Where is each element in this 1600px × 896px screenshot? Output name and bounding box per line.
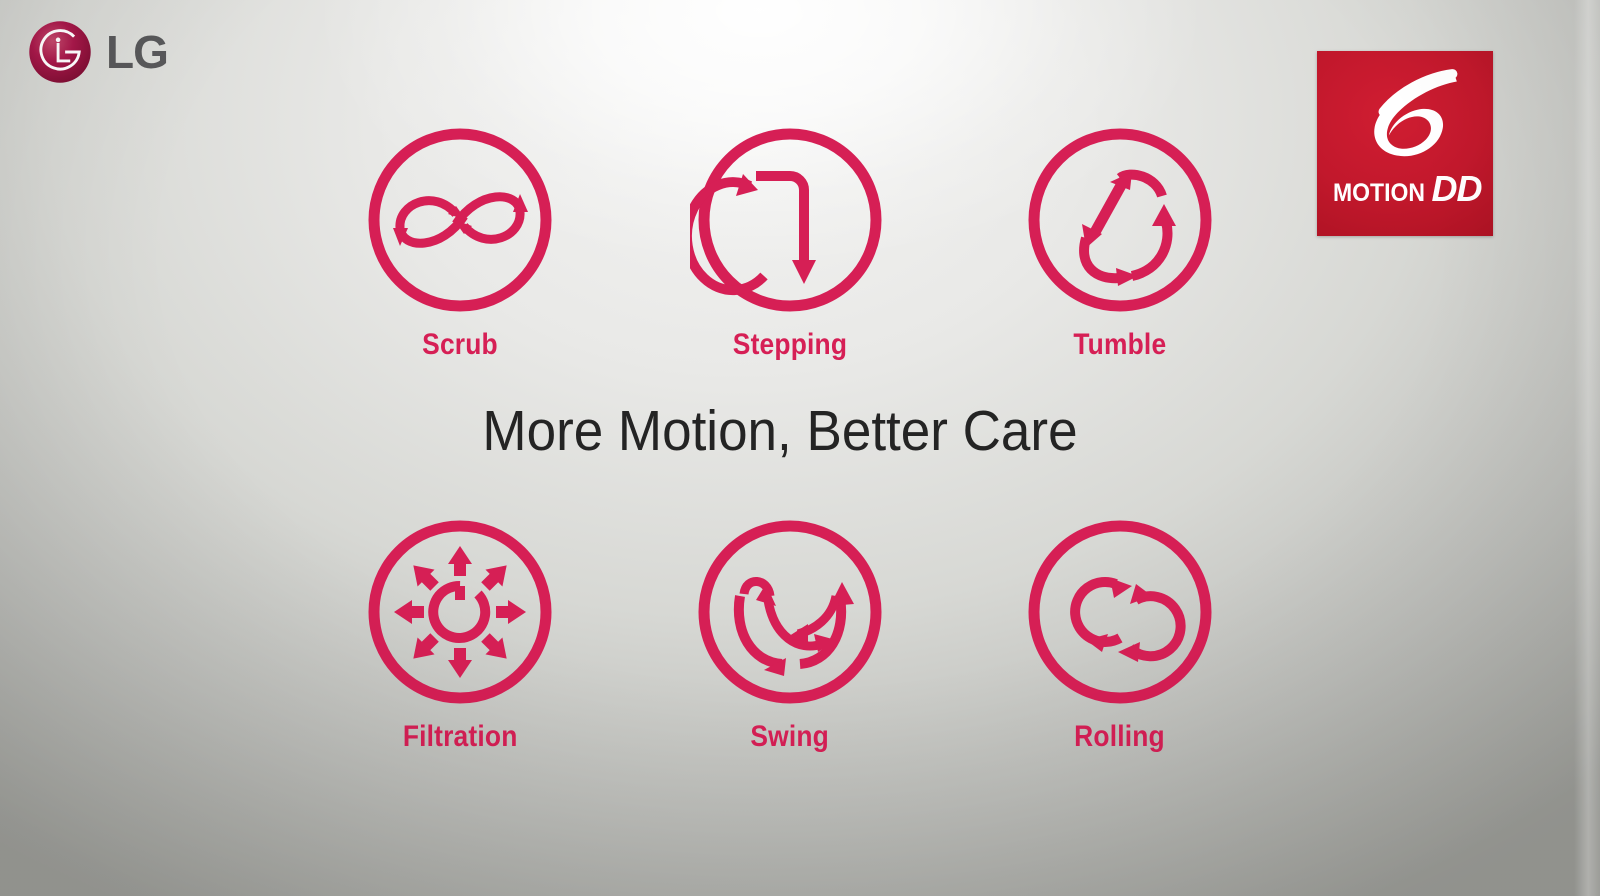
motion-item-filtration[interactable]: Filtration: [330, 512, 590, 754]
double-rotation-arrows-icon: [1020, 512, 1220, 712]
motion-item-stepping[interactable]: Stepping: [660, 120, 920, 362]
pendulum-swing-arrows-icon: [690, 512, 890, 712]
motion-label-filtration: Filtration: [403, 720, 518, 754]
motion-item-tumble[interactable]: Tumble: [990, 120, 1250, 362]
promo-slide: LG MOTION DD: [0, 0, 1600, 896]
lg-wordmark: LG: [106, 29, 168, 75]
step-hook-arrow-icon: [690, 120, 890, 320]
lg-logo: LG: [28, 20, 168, 84]
motion-item-rolling[interactable]: Rolling: [990, 512, 1250, 754]
motion-label-stepping: Stepping: [733, 328, 847, 362]
right-edge-sheen: [1574, 0, 1600, 896]
motion-label-tumble: Tumble: [1074, 328, 1167, 362]
six-motion-dd-badge: MOTION DD: [1317, 51, 1493, 236]
motion-row-top: Scrub Stepping: [330, 120, 1250, 362]
motion-label-scrub: Scrub: [422, 328, 498, 362]
lg-logo-icon: [28, 20, 92, 84]
motion-row-bottom: Filtration: [330, 512, 1250, 754]
motion-item-scrub[interactable]: Scrub: [330, 120, 590, 362]
tumble-cycle-arrows-icon: [1020, 120, 1220, 320]
motion-item-swing[interactable]: Swing: [660, 512, 920, 754]
motion-label-swing: Swing: [751, 720, 830, 754]
badge-text: MOTION DD: [1329, 171, 1482, 207]
badge-dd-label: DD: [1432, 171, 1482, 207]
motion-label-rolling: Rolling: [1075, 720, 1166, 754]
radial-burst-arrows-icon: [360, 512, 560, 712]
badge-motion-label: MOTION: [1333, 181, 1425, 206]
six-swoosh-icon: [1339, 61, 1471, 169]
infinity-arrows-icon: [360, 120, 560, 320]
page-title: More Motion, Better Care: [55, 398, 1506, 464]
